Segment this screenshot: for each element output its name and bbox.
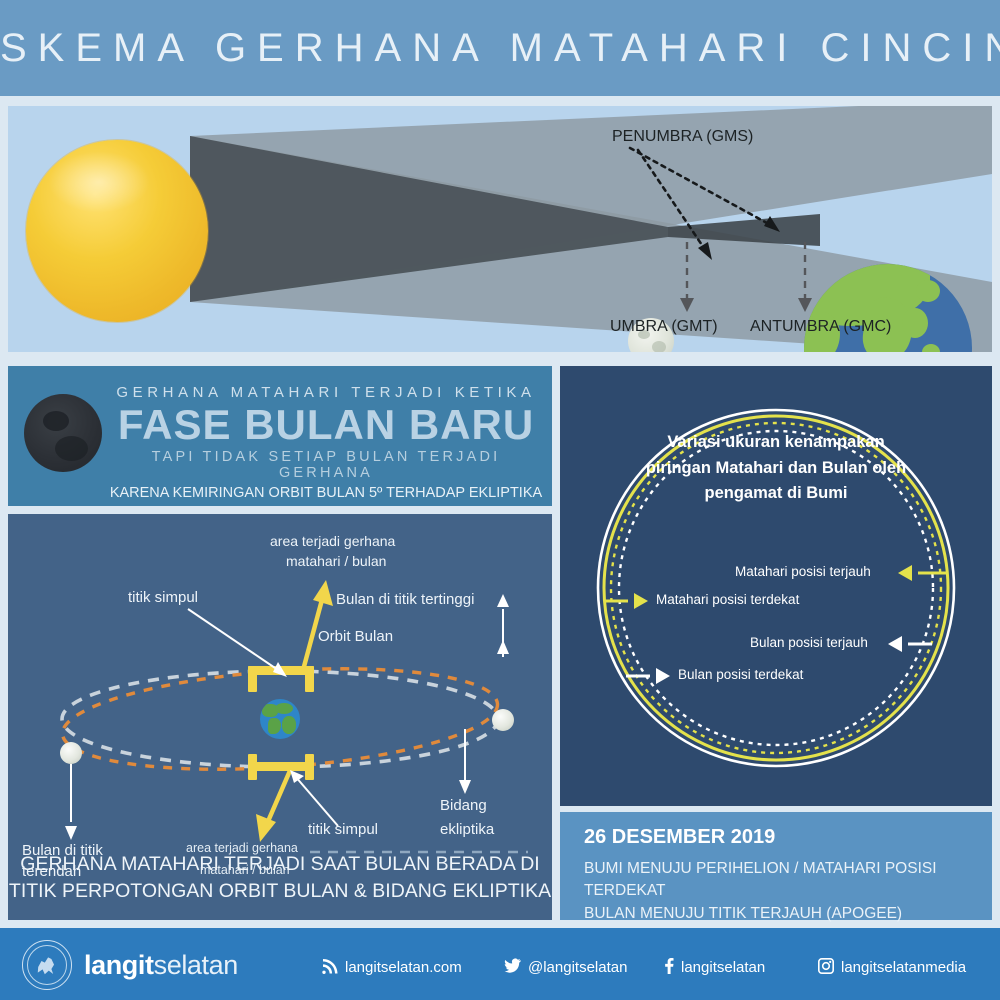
brand-light: selatan	[154, 950, 238, 980]
diagram-pointers	[8, 106, 992, 352]
orbit-label-area-top-2: matahari / bulan	[286, 552, 386, 570]
antumbra-label: ANTUMBRA (GMC)	[750, 318, 891, 336]
footer-instagram-label: langitselatanmedia	[841, 959, 966, 976]
fase-line-sub2: KARENA KEMIRINGAN ORBIT BULAN 5º TERHADA…	[108, 485, 544, 501]
new-moon-phase-panel: GERHANA MATAHARI TERJADI KETIKA FASE BUL…	[8, 366, 552, 506]
infographic-root: SKEMA GERHANA MATAHARI CINCIN	[0, 0, 1000, 1000]
apparent-size-panel: Variasi ukuran kenampakan piringan Matah…	[560, 366, 992, 806]
moon-lowest-point	[60, 742, 82, 764]
footer-link-facebook[interactable]: langitselatan	[664, 958, 765, 978]
new-moon-icon	[24, 394, 102, 472]
brand-bold: langit	[84, 950, 154, 980]
umbra-label: UMBRA (GMT)	[610, 318, 718, 336]
new-moon-text-block: GERHANA MATAHARI TERJADI KETIKA FASE BUL…	[108, 384, 544, 501]
orbit-label-bidang-2: ekliptika	[440, 820, 494, 840]
label-sun-farthest: Matahari posisi terjauh	[735, 564, 871, 579]
label-moon-farthest: Bulan posisi terjauh	[750, 635, 868, 650]
apparent-size-title-line2: piringan Matahari dan Bulan oleh	[616, 456, 936, 482]
label-moon-nearest: Bulan posisi terdekat	[678, 667, 803, 682]
event-date: 26 DESEMBER 2019	[584, 826, 775, 849]
orbit-caption-line1: GERHANA MATAHARI TERJADI SAAT BULAN BERA…	[8, 851, 552, 877]
twitter-icon	[504, 958, 521, 978]
moon-highest-point	[492, 709, 514, 731]
event-note: BUMI MENUJU PERIHELION / MATAHARI POSISI…	[584, 858, 992, 925]
page-title: SKEMA GERHANA MATAHARI CINCIN	[0, 26, 1000, 71]
orbit-label-moon-highest: Bulan di titik tertinggi	[336, 590, 474, 610]
lunar-orbit-panel: area terjadi gerhana matahari / bulan ti…	[8, 514, 552, 920]
apparent-size-title-line1: Variasi ukuran kenampakan	[616, 430, 936, 456]
langitselatan-seal-icon	[22, 940, 72, 990]
footer-facebook-label: langitselatan	[681, 959, 765, 976]
orbit-label-area-top-1: area terjadi gerhana	[270, 532, 395, 550]
penumbra-label: PENUMBRA (GMS)	[612, 128, 753, 146]
apparent-size-title: Variasi ukuran kenampakan piringan Matah…	[616, 430, 936, 507]
facebook-icon	[664, 958, 674, 978]
footer-bar: langitselatan langitselatan.com @langits…	[0, 928, 1000, 1000]
fase-headline: FASE BULAN BARU	[108, 403, 544, 447]
footer-link-website[interactable]: langitselatan.com	[322, 958, 462, 978]
fase-line-top: GERHANA MATAHARI TERJADI KETIKA	[108, 384, 544, 401]
apparent-size-title-line3: pengamat di Bumi	[616, 481, 936, 507]
header-bar: SKEMA GERHANA MATAHARI CINCIN	[0, 0, 1000, 96]
orbit-caption-line2: TITIK PERPOTONGAN ORBIT BULAN & BIDANG E…	[8, 878, 552, 904]
label-sun-nearest: Matahari posisi terdekat	[656, 592, 799, 607]
brand-wordmark[interactable]: langitselatan	[84, 950, 238, 981]
eclipse-geometry-diagram: PENUMBRA (GMS) UMBRA (GMT) ANTUMBRA (GMC…	[8, 106, 992, 352]
event-note-line1: BUMI MENUJU PERIHELION / MATAHARI POSISI…	[584, 858, 992, 903]
earth-small-sphere	[260, 699, 300, 739]
event-date-panel: 26 DESEMBER 2019 BUMI MENUJU PERIHELION …	[560, 812, 992, 920]
footer-link-twitter[interactable]: @langitselatan	[504, 958, 627, 978]
footer-link-instagram[interactable]: langitselatanmedia	[818, 958, 966, 978]
orbit-label-orbit-bulan: Orbit Bulan	[318, 627, 393, 647]
event-note-line2: BULAN MENUJU TITIK TERJAUH (APOGEE)	[584, 903, 992, 925]
orbit-label-titik-simpul-top: titik simpul	[128, 588, 198, 608]
instagram-icon	[818, 958, 834, 978]
rss-icon	[322, 958, 338, 978]
orbit-label-bidang-1: Bidang	[440, 796, 487, 816]
orbit-label-titik-simpul-bottom: titik simpul	[308, 820, 378, 840]
footer-website-label: langitselatan.com	[345, 959, 462, 976]
fase-line-sub: TAPI TIDAK SETIAP BULAN TERJADI GERHANA	[108, 449, 544, 481]
footer-twitter-label: @langitselatan	[528, 959, 627, 976]
orbit-caption: GERHANA MATAHARI TERJADI SAAT BULAN BERA…	[8, 851, 552, 904]
